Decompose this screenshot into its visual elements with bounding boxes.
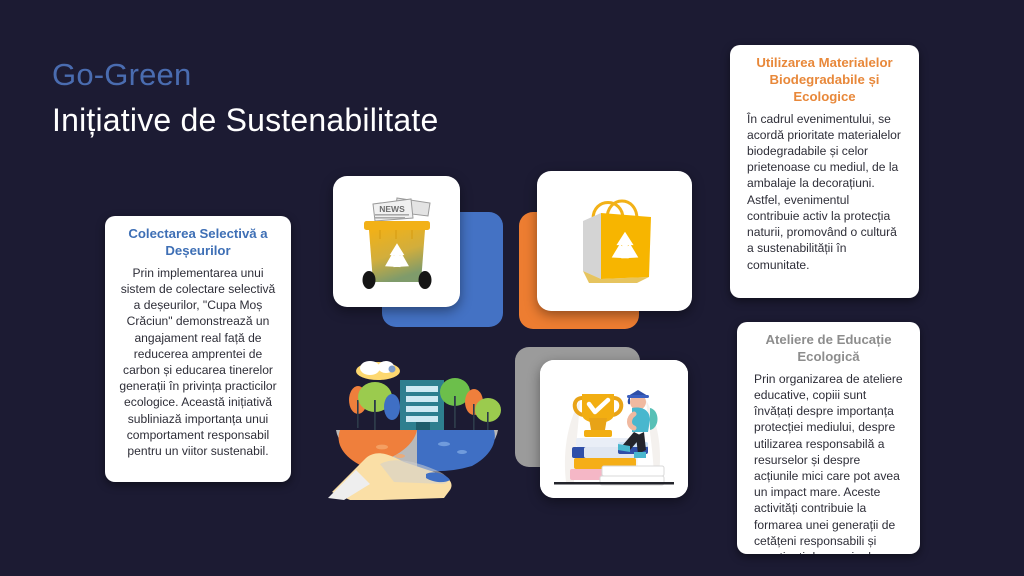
card-title: Utilizarea Materialelor Biodegradabile ș… <box>743 55 906 106</box>
hand-eco-city-icon <box>322 352 502 500</box>
image-card-shopping-bag[interactable] <box>537 171 692 311</box>
page-heading: Go-Green Inițiative de Sustenabilitate <box>52 57 439 139</box>
card-body: În cadrul evenimentului, se acordă prior… <box>743 111 906 273</box>
brand-title: Go-Green <box>52 57 439 93</box>
recycling-bin-icon: NEWS <box>333 176 460 307</box>
image-card-education[interactable] <box>540 360 688 498</box>
recycling-shopping-bag-icon <box>537 171 692 311</box>
card-materiale-biodegradabile[interactable]: Utilizarea Materialelor Biodegradabile ș… <box>730 45 919 298</box>
card-ateliere-educatie[interactable]: Ateliere de Educație Ecologică Prin orga… <box>737 322 920 554</box>
card-body: Prin organizarea de ateliere educative, … <box>750 371 907 554</box>
card-colectarea-selectiva[interactable]: Colectarea Selectivă a Deșeurilor Prin i… <box>105 216 291 482</box>
card-title: Ateliere de Educație Ecologică <box>750 332 907 366</box>
card-title: Colectarea Selectivă a Deșeurilor <box>118 226 278 260</box>
card-body: Prin implementarea unui sistem de colect… <box>118 265 278 459</box>
illustration-hand-holding-eco-city <box>322 352 502 500</box>
graduate-books-trophy-icon <box>540 360 688 498</box>
page-title: Inițiative de Sustenabilitate <box>52 101 439 139</box>
svg-text:NEWS: NEWS <box>379 204 405 214</box>
image-card-recycling-bin[interactable]: NEWS <box>333 176 460 307</box>
